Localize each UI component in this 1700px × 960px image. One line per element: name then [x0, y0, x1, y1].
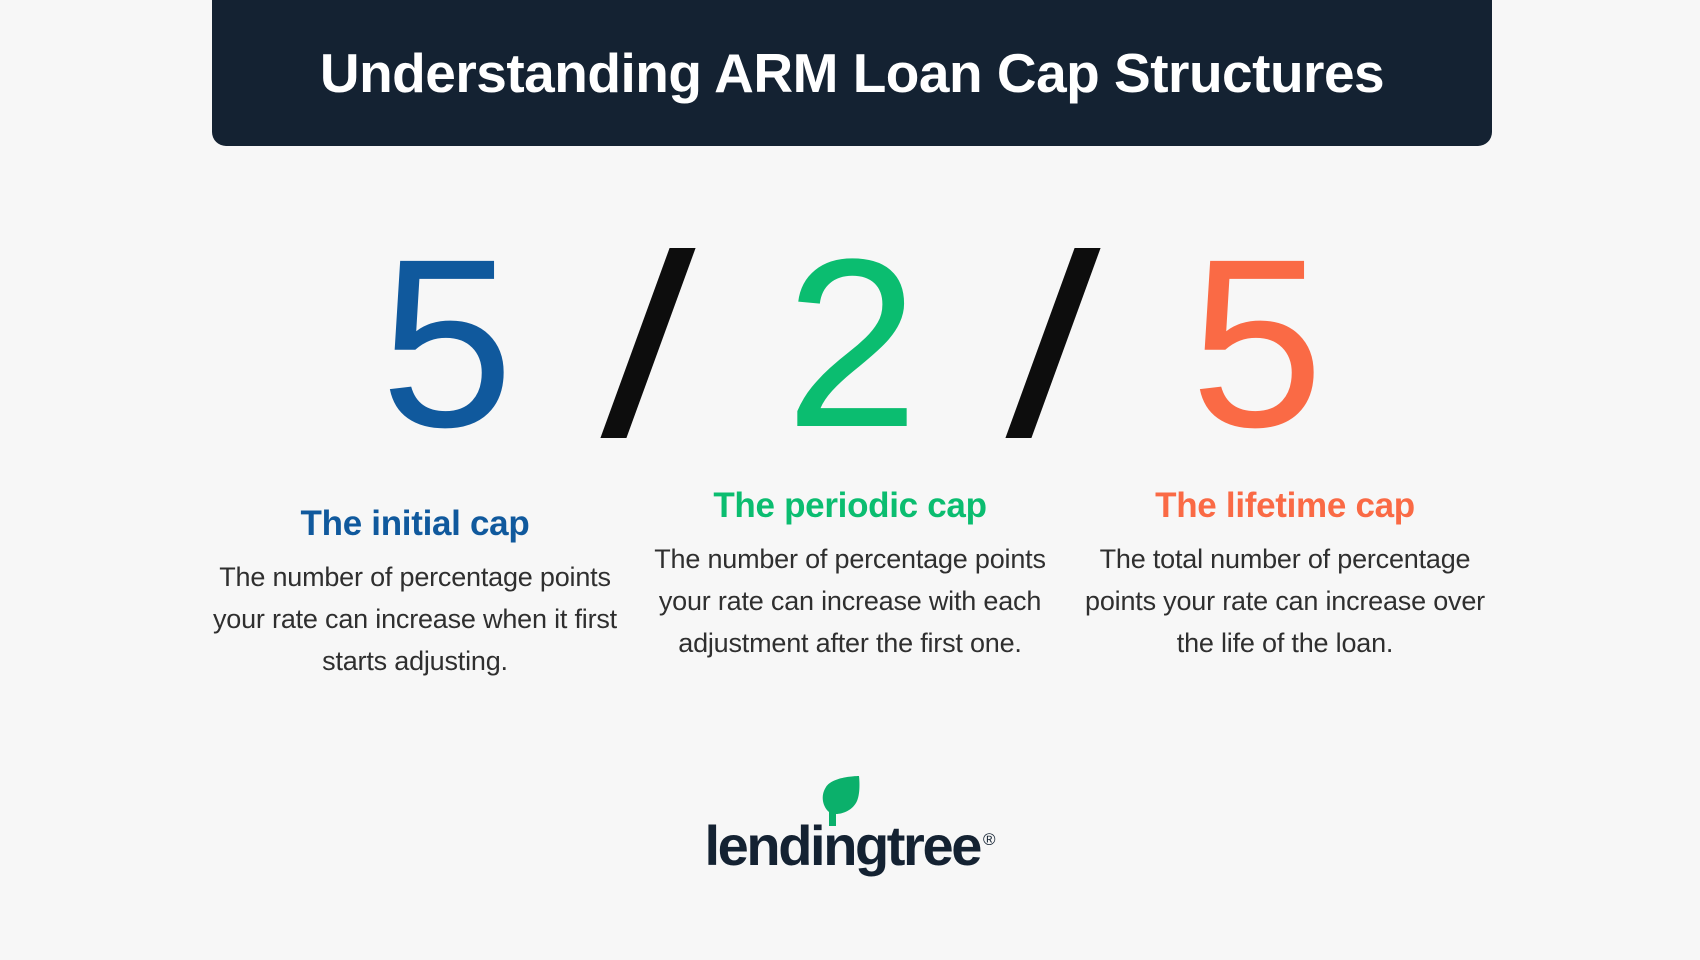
header-banner: Understanding ARM Loan Cap Structures — [212, 0, 1492, 146]
numeral-lifetime-cap: 5 — [1160, 248, 1350, 438]
infographic-canvas: Understanding ARM Loan Cap Structures 5 … — [0, 0, 1700, 960]
slash-separator-1 — [540, 248, 755, 438]
column-body-lifetime-cap: The total number of percentage points yo… — [1082, 538, 1489, 664]
column-periodic-cap: The periodic cap The number of percentag… — [633, 486, 1068, 664]
column-body-initial-cap: The number of percentage points your rat… — [212, 556, 619, 682]
column-initial-cap: The initial cap The number of percentage… — [198, 504, 633, 682]
slash-icon — [1005, 248, 1100, 438]
page-title: Understanding ARM Loan Cap Structures — [320, 43, 1384, 104]
column-lifetime-cap: The lifetime cap The total number of per… — [1068, 486, 1503, 664]
lendingtree-logo: lendingtree ® — [705, 818, 996, 874]
cap-numerals-row: 5 2 5 — [0, 248, 1700, 448]
column-heading-lifetime-cap: The lifetime cap — [1082, 486, 1489, 526]
column-heading-periodic-cap: The periodic cap — [647, 486, 1054, 526]
column-heading-initial-cap: The initial cap — [212, 504, 619, 544]
brand-logo-area: lendingtree ® — [0, 818, 1700, 874]
leaf-icon — [819, 774, 863, 828]
registered-trademark-symbol: ® — [983, 831, 996, 848]
cap-description-columns: The initial cap The number of percentage… — [0, 460, 1700, 682]
column-body-periodic-cap: The number of percentage points your rat… — [647, 538, 1054, 664]
numeral-periodic-cap: 2 — [755, 248, 945, 438]
numeral-initial-cap: 5 — [350, 248, 540, 438]
slash-separator-2 — [945, 248, 1160, 438]
slash-icon — [600, 248, 695, 438]
